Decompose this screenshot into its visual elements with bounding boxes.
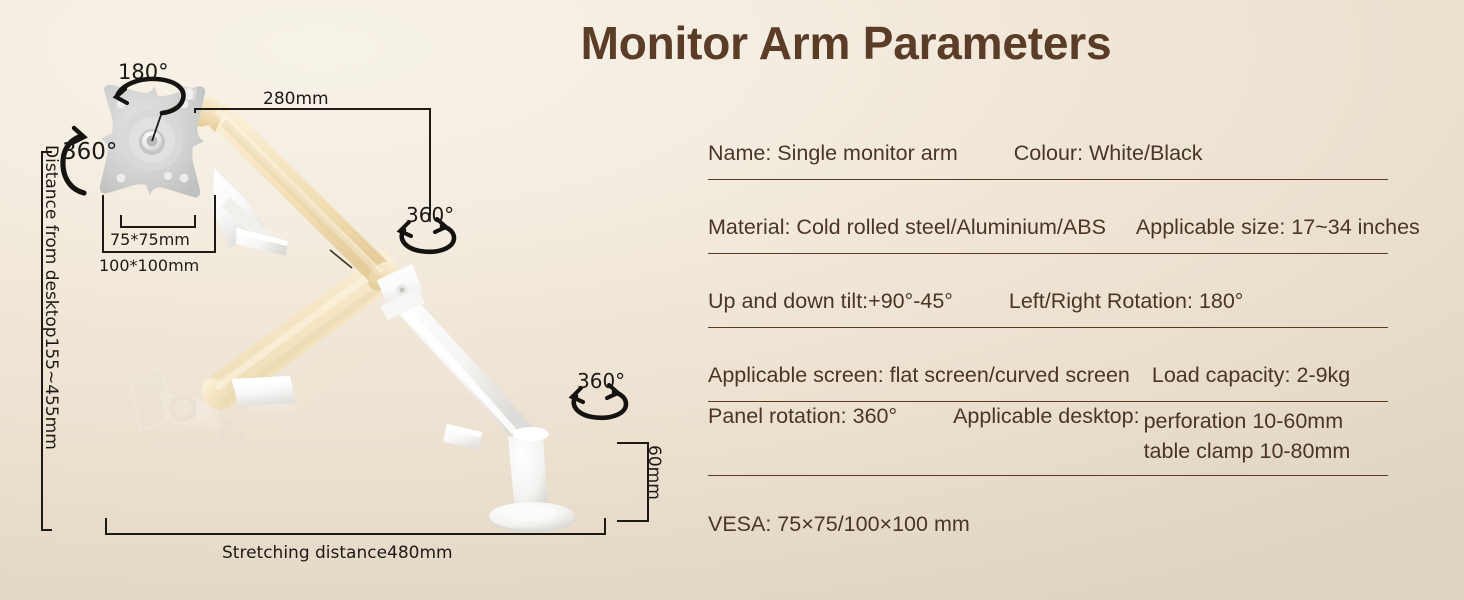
lower-arm-housing <box>232 376 296 406</box>
spec-label-applicable-screen: Applicable screen: flat screen/curved sc… <box>708 363 1130 388</box>
desktop-option-table-clamp: table clamp 10-80mm <box>1144 436 1351 467</box>
spec-row-screen-load: Applicable screen: flat screen/curved sc… <box>708 328 1388 402</box>
label-joint-rotation-360-mid: 360° <box>406 203 454 227</box>
spec-label-vesa: VESA: 75×75/100×100 mm <box>708 512 970 537</box>
spec-label-panel-rotation: Panel rotation: 360° <box>708 404 897 429</box>
spec-label-applicable-desktop: Applicable desktop: <box>953 404 1139 429</box>
spec-value-left-right-rotation: Left/Right Rotation: 180° <box>1009 289 1244 314</box>
spec-label-material: Material: Cold rolled steel/Aluminium/AB… <box>708 215 1106 240</box>
specification-table: Name: Single monitor arm Colour: White/B… <box>708 106 1388 550</box>
monitor-arm-illustration <box>0 0 690 600</box>
spec-label-name: Name: Single monitor arm <box>708 141 958 166</box>
spec-value-colour: Colour: White/Black <box>1014 141 1203 166</box>
arm-post-and-base <box>377 264 575 533</box>
label-vesa-100x100: 100*100mm <box>99 256 199 275</box>
label-tilt-rotation-180: 180° <box>118 60 169 84</box>
label-panel-rotation-360-left: 360° <box>62 139 117 165</box>
spec-row-panel-desktop: Panel rotation: 360° Applicable desktop:… <box>708 402 1388 476</box>
label-height-range: Distance from desktop155~455mm <box>41 145 61 525</box>
label-base-height-60mm: 60mm <box>644 445 664 500</box>
spec-row-vesa: VESA: 75×75/100×100 mm <box>708 476 1388 550</box>
spec-label-tilt: Up and down tilt:+90°-45° <box>708 289 953 314</box>
label-base-rotation-360: 360° <box>577 369 625 393</box>
spec-row-tilt-rotation: Up and down tilt:+90°-45° Left/Right Rot… <box>708 254 1388 328</box>
spec-value-desktop-options: perforation 10-60mm table clamp 10-80mm <box>1144 406 1351 467</box>
label-arm-length-280mm: 280mm <box>263 89 329 109</box>
monitor-arm-diagram: 180° 360° 360° 360° 280mm 75*75mm 100*10… <box>0 0 690 600</box>
label-stretching-distance: Stretching distance480mm <box>222 543 453 563</box>
label-vesa-75x75: 75*75mm <box>110 230 190 249</box>
spec-value-applicable-size: Applicable size: 17~34 inches <box>1136 215 1420 240</box>
spec-row-material-size: Material: Cold rolled steel/Aluminium/AB… <box>708 180 1388 254</box>
product-spec-infographic: Monitor Arm Parameters <box>0 0 1464 600</box>
spec-row-name-colour: Name: Single monitor arm Colour: White/B… <box>708 106 1388 180</box>
spec-value-load-capacity: Load capacity: 2-9kg <box>1152 363 1350 388</box>
desktop-option-perforation: perforation 10-60mm <box>1144 406 1351 437</box>
